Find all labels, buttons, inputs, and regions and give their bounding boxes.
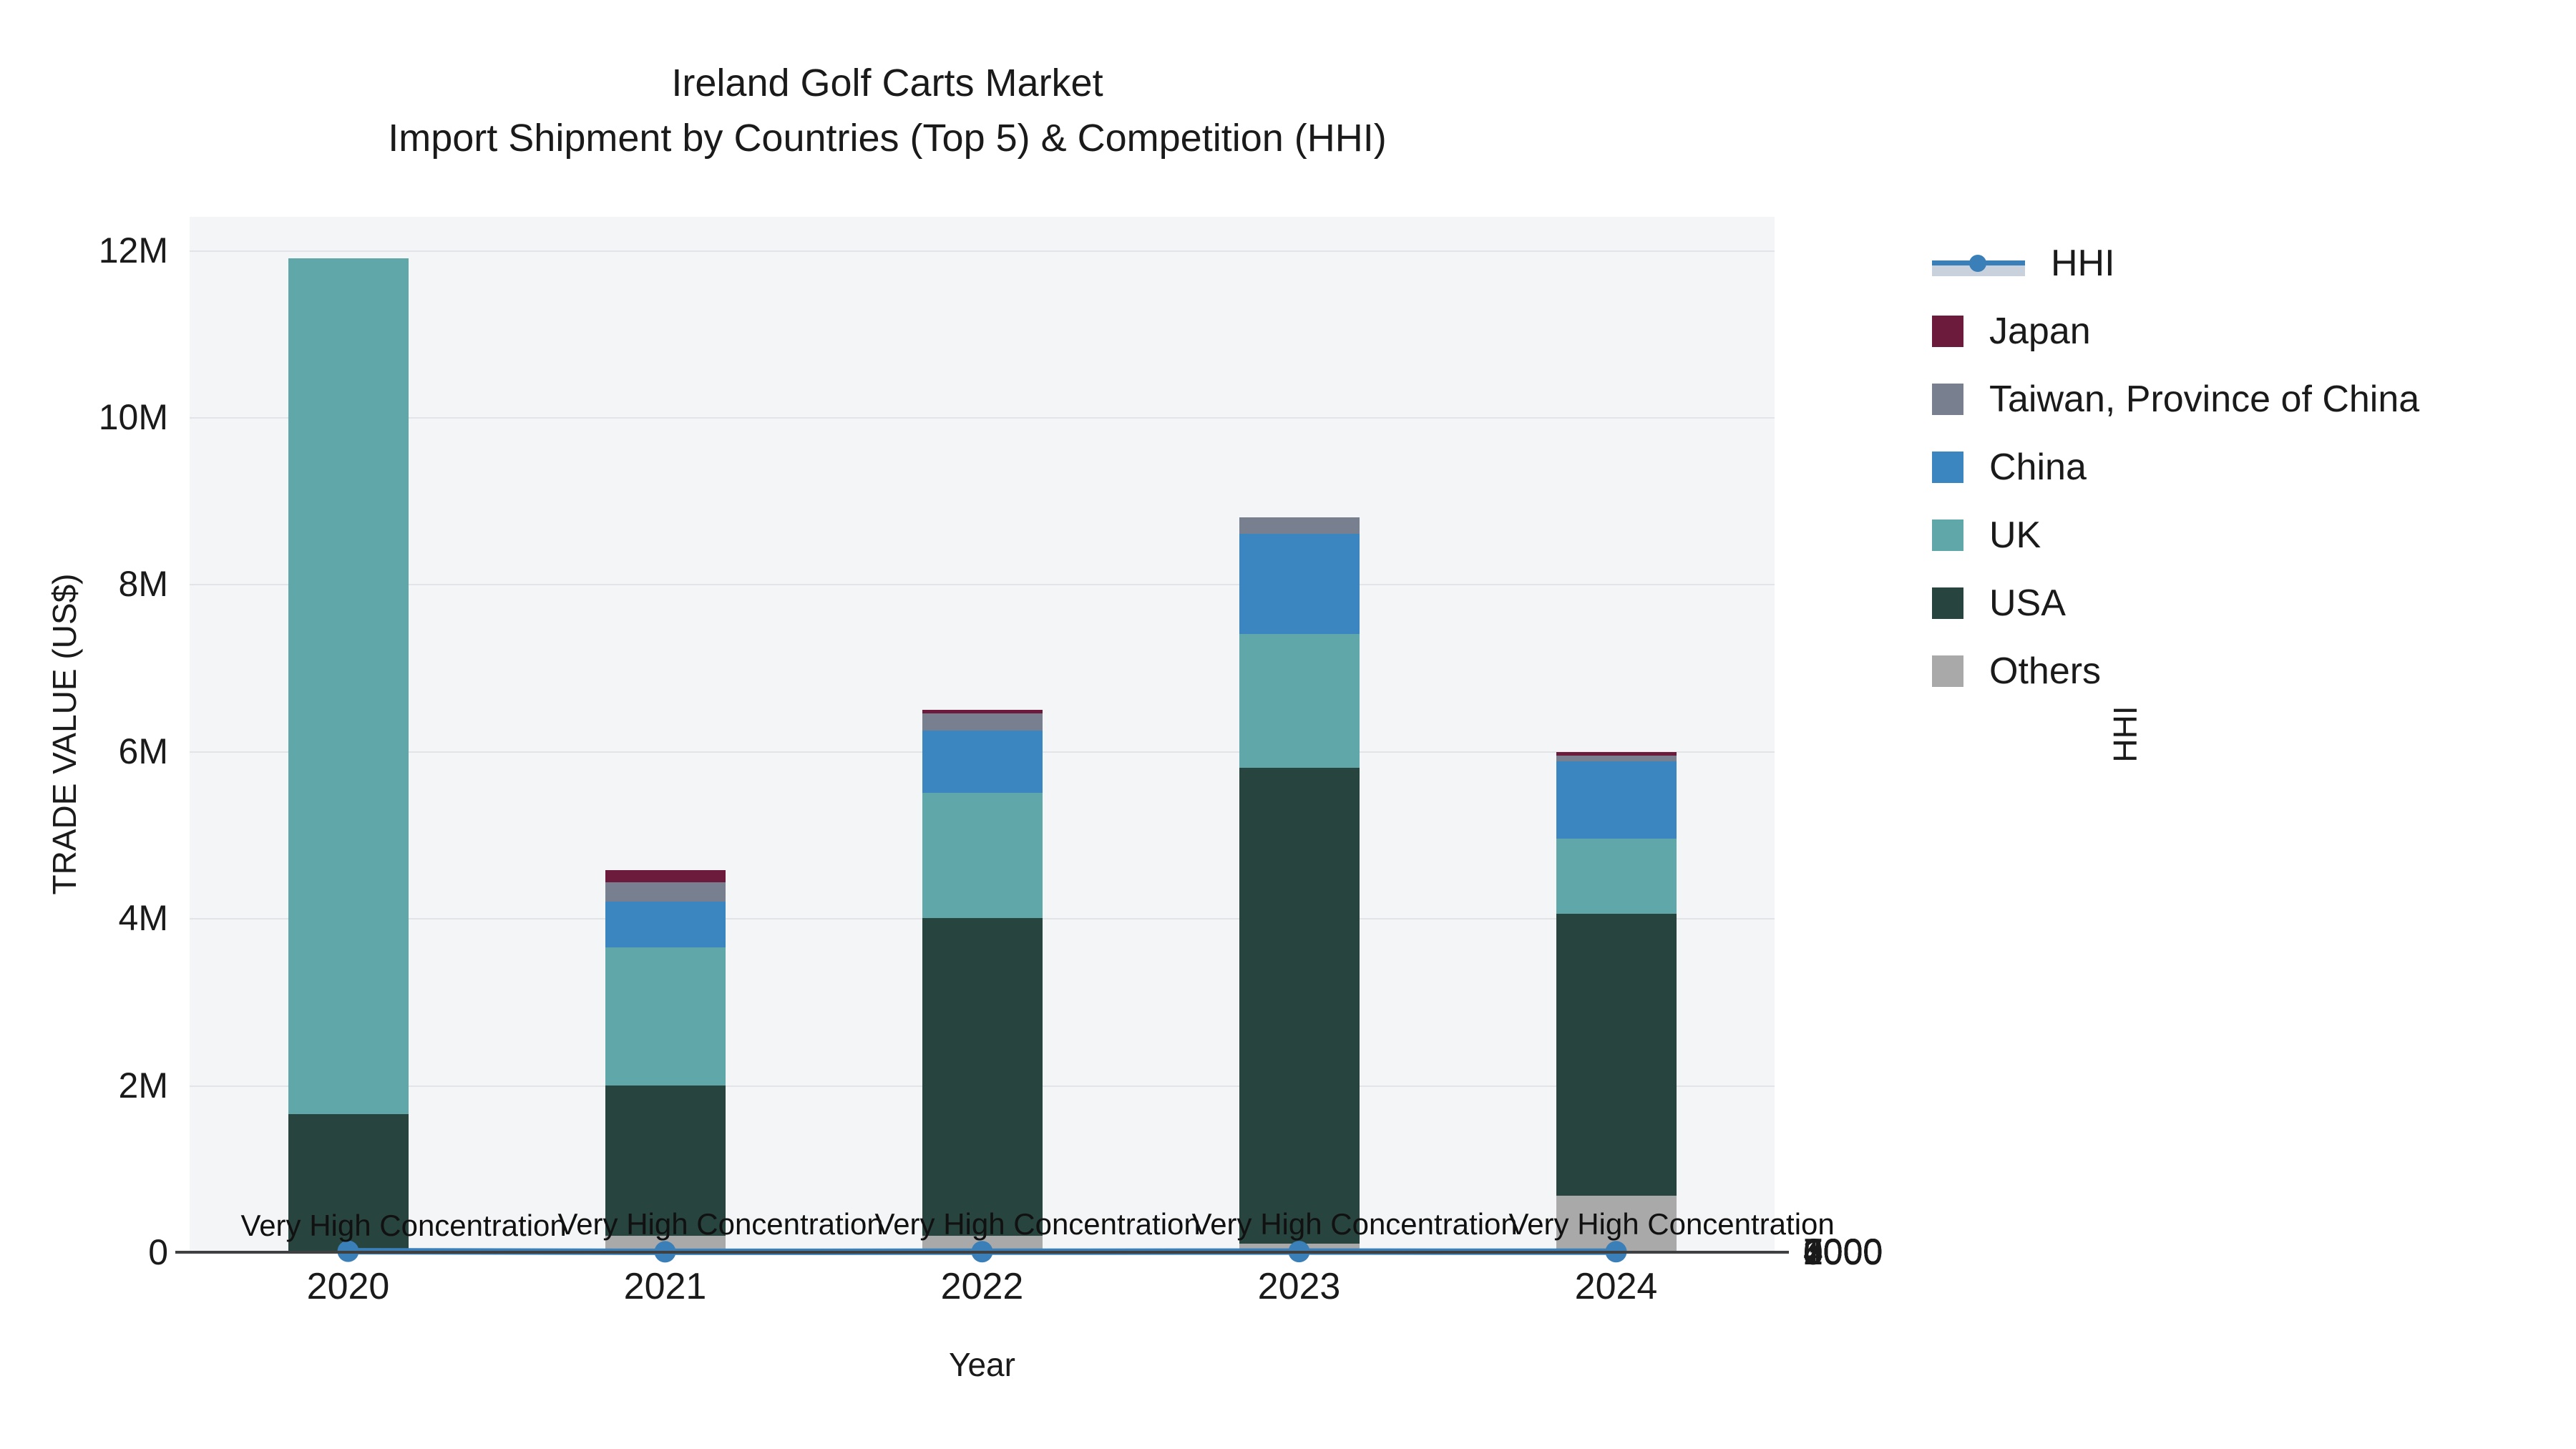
legend-label: Taiwan, Province of China <box>1989 378 2419 421</box>
legend-item-others[interactable]: Others <box>1932 637 2562 705</box>
legend-swatch-icon <box>1932 384 1963 415</box>
y-axis-left-title: TRADE VALUE (US$) <box>45 562 84 906</box>
legend-item-hhi[interactable]: HHI <box>1932 229 2562 297</box>
x-axis-tick-label-2021: 2021 <box>558 1265 773 1308</box>
legend-item-usa[interactable]: USA <box>1932 569 2562 637</box>
legend-label: Others <box>1989 650 2101 693</box>
plot-area: Very High ConcentrationVery High Concent… <box>190 217 1775 1252</box>
x-axis-title: Year <box>190 1345 1775 1384</box>
y-axis-left-tick-label: 10M <box>25 396 168 438</box>
hhi-line-series <box>190 217 1775 1252</box>
legend-swatch-icon <box>1932 519 1963 551</box>
page-title: Ireland Golf Carts Market Import Shipmen… <box>0 56 1775 165</box>
x-axis-tick-label-2023: 2023 <box>1192 1265 1407 1308</box>
concentration-annotation: Very High Concentration <box>1192 1207 1518 1241</box>
concentration-annotation: Very High Concentration <box>241 1209 567 1243</box>
title-line-1: Ireland Golf Carts Market <box>0 56 1775 111</box>
legend-swatch-icon <box>1932 452 1963 483</box>
legend-label: USA <box>1989 582 2066 625</box>
legend-label: UK <box>1989 514 2041 557</box>
legend-line-marker-icon <box>1932 248 2025 279</box>
y-axis-right-tick-label: 7000 <box>1803 1231 1883 1272</box>
x-axis-line <box>175 1251 1789 1254</box>
y-axis-left-tick-label: 12M <box>25 230 168 271</box>
legend-swatch-icon <box>1932 655 1963 687</box>
legend-item-taiwan-province-of-china[interactable]: Taiwan, Province of China <box>1932 365 2562 433</box>
legend-item-japan[interactable]: Japan <box>1932 297 2562 365</box>
concentration-annotation: Very High Concentration <box>875 1207 1201 1241</box>
title-line-2: Import Shipment by Countries (Top 5) & C… <box>0 111 1775 166</box>
legend-item-uk[interactable]: UK <box>1932 501 2562 569</box>
legend: HHIJapanTaiwan, Province of ChinaChinaUK… <box>1932 229 2562 705</box>
y-axis-left-tick-label: 2M <box>25 1065 168 1106</box>
concentration-annotation: Very High Concentration <box>1509 1207 1835 1241</box>
concentration-annotation: Very High Concentration <box>558 1207 884 1241</box>
x-axis-tick-label-2020: 2020 <box>241 1265 456 1308</box>
legend-label: Japan <box>1989 310 2091 353</box>
legend-swatch-icon <box>1932 587 1963 619</box>
legend-item-china[interactable]: China <box>1932 433 2562 501</box>
legend-swatch-icon <box>1932 316 1963 347</box>
legend-label: HHI <box>2051 242 2115 285</box>
legend-label: China <box>1989 446 2087 489</box>
x-axis-tick-label-2022: 2022 <box>875 1265 1090 1308</box>
chart-page: Ireland Golf Carts Market Import Shipmen… <box>0 0 2576 1449</box>
x-axis-tick-label-2024: 2024 <box>1509 1265 1724 1308</box>
y-axis-left-tick-label: 0 <box>25 1231 168 1273</box>
